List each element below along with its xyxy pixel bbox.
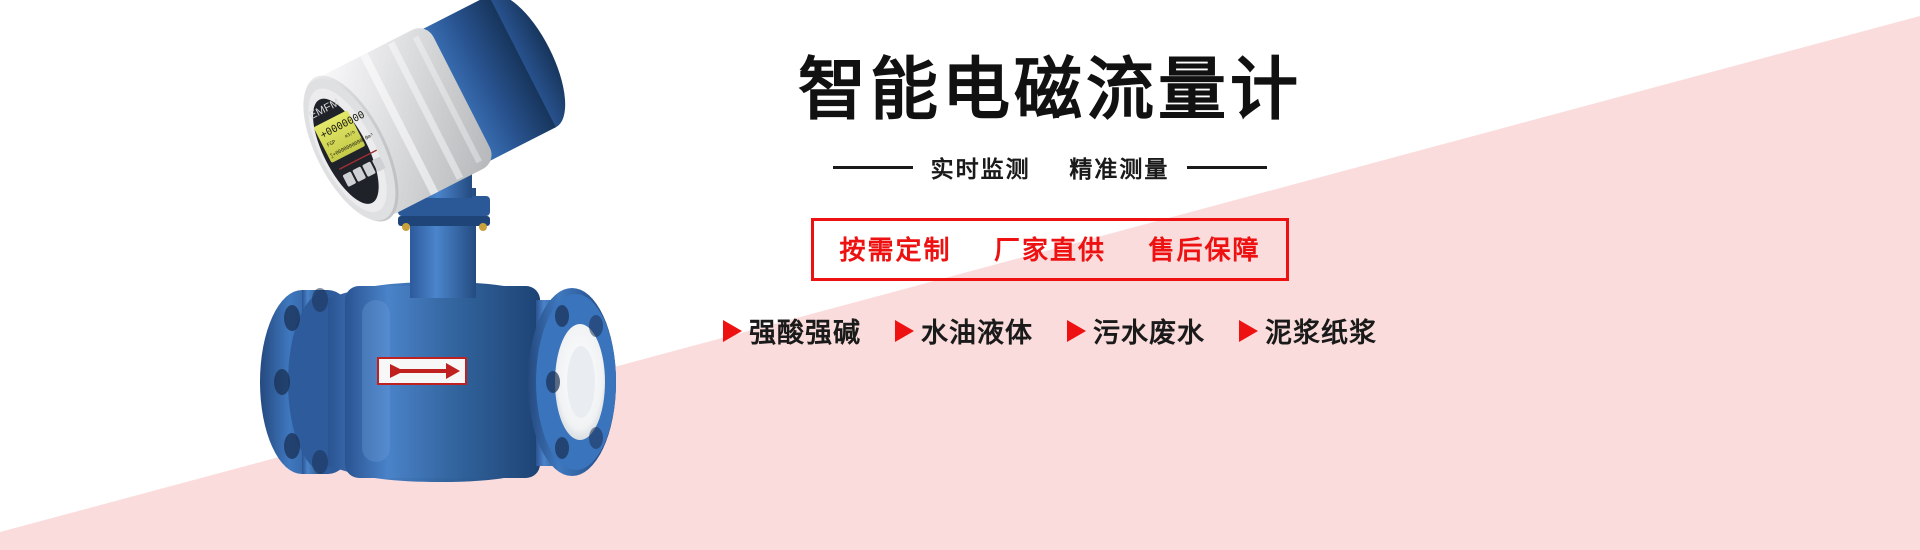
promo-wrap: 按需定制 厂家直供 售后保障 xyxy=(600,218,1500,281)
feature-label-2: 水油液体 xyxy=(921,311,1033,350)
right-triangle-arrow-icon xyxy=(895,320,914,342)
promo-item-3: 售后保障 xyxy=(1148,235,1260,265)
flow-direction-arrow-label xyxy=(378,358,466,384)
subtitle-rule-right xyxy=(1187,166,1267,169)
feature-label-1: 强酸强碱 xyxy=(749,311,861,350)
feature-item-2: 水油液体 xyxy=(895,311,1033,350)
feature-label-3: 污水废水 xyxy=(1093,311,1205,350)
subtitle-rule-left xyxy=(833,166,913,169)
feature-list: 强酸强碱 水油液体 污水废水 泥浆纸浆 xyxy=(600,311,1500,350)
right-triangle-arrow-icon xyxy=(1067,320,1086,342)
subtitle-row: 实时监测 精准测量 xyxy=(600,150,1500,184)
flowmeter-tube-body xyxy=(260,282,616,482)
headline-block: 智能电磁流量计 实时监测 精准测量 按需定制 厂家直供 售后保障 xyxy=(600,28,1500,408)
subtitle-left: 实时监测 xyxy=(931,156,1031,182)
page-title: 智能电磁流量计 xyxy=(600,56,1500,124)
promo-item-1: 按需定制 xyxy=(840,235,952,265)
feature-item-4: 泥浆纸浆 xyxy=(1239,311,1377,350)
feature-item-1: 强酸强碱 xyxy=(723,311,861,350)
product-banner: EMFM +0000000 FGP m3/h ∑+0000000000.0m³ … xyxy=(0,0,1920,550)
right-triangle-arrow-icon xyxy=(1239,320,1258,342)
promo-box: 按需定制 厂家直供 售后保障 xyxy=(811,218,1290,281)
promo-text: 按需定制 厂家直供 售后保障 xyxy=(840,235,1261,265)
subtitle-text: 实时监测 精准测量 xyxy=(931,150,1170,184)
subtitle-right: 精准测量 xyxy=(1069,156,1169,182)
promo-item-2: 厂家直供 xyxy=(994,235,1106,265)
right-triangle-arrow-icon xyxy=(723,320,742,342)
feature-item-3: 污水废水 xyxy=(1067,311,1205,350)
feature-label-4: 泥浆纸浆 xyxy=(1265,311,1377,350)
